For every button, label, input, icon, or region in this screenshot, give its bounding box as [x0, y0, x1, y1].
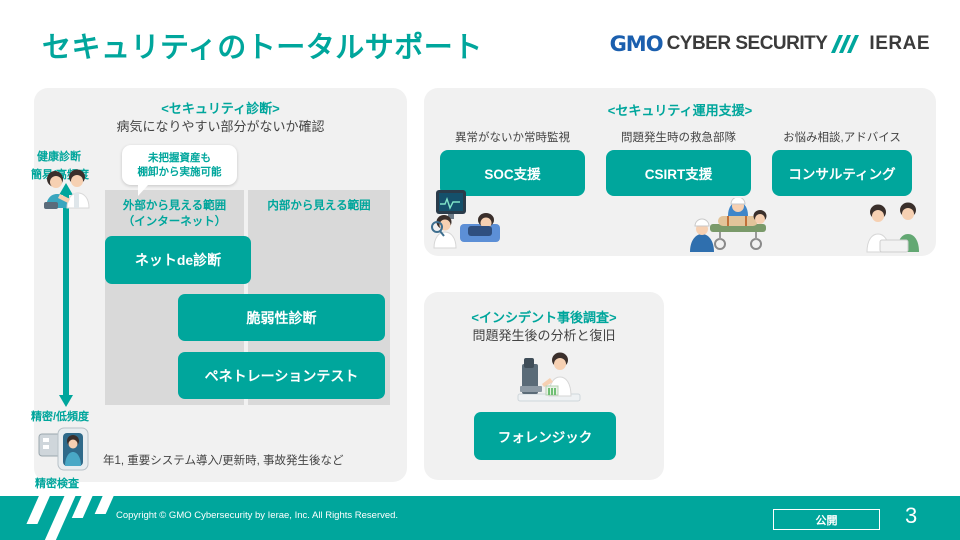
brand-logo: GMO CYBER SECURITY IERAE — [610, 32, 930, 56]
footer-slash-icon — [72, 496, 95, 518]
footer-slash-icon — [26, 496, 52, 524]
logo-gmo-text: GMO — [610, 32, 663, 56]
slide: セキュリティのトータルサポート GMO CYBER SECURITY IERAE… — [0, 0, 960, 540]
callout-line1: 未把握資産も — [138, 151, 222, 165]
consulting-illustration — [860, 196, 932, 254]
forensic-panel-subtitle: 問題発生後の分析と復旧 — [424, 325, 664, 344]
logo-ierae-text: IERAE — [869, 33, 930, 55]
frequency-axis-arrow — [59, 183, 73, 407]
forensic-panel-title: <インシデント事後調査> — [424, 307, 664, 326]
operations-caption-consulting: お悩み相談,アドバイス — [766, 129, 918, 145]
monitoring-illustration — [428, 186, 502, 250]
operations-caption-soc: 異常がないか常時監視 — [440, 129, 585, 145]
service-box-consulting[interactable]: コンサルティング — [772, 150, 912, 196]
service-box-forensic[interactable]: フォレンジック — [474, 412, 616, 460]
arrow-shaft — [63, 194, 69, 396]
grid-head-line1: 外部から見える範囲 — [105, 199, 244, 215]
service-box-net-de-shindan[interactable]: ネットde診断 — [105, 236, 251, 284]
axis-label-precise-low-frequency: 精密/低頻度 — [31, 408, 89, 424]
operations-caption-csirt: 問題発生時の救急部隊 — [600, 129, 757, 145]
page-number: 3 — [905, 503, 917, 529]
grid-head-line1: 内部から見える範囲 — [248, 199, 390, 215]
axis-label-detailed-exam: 精密検査 — [35, 475, 79, 491]
axis-label-health-checkup: 健康診断 — [37, 148, 81, 164]
diagnostics-panel-subtitle: 病気になりやすい部分がないか確認 — [34, 116, 407, 135]
footer-slash-icon — [95, 496, 117, 514]
page-title: セキュリティのトータルサポート — [42, 24, 483, 66]
footer-slash-icon — [45, 496, 78, 540]
grid-column-external-head: 外部から見える範囲 （インターネット） — [105, 190, 244, 230]
copyright-text: Copyright © GMO Cybersecurity by Ierae, … — [116, 510, 398, 521]
diagnostics-frequency-note: 年1, 重要システム導入/更新時, 事故発生後など — [103, 452, 344, 468]
double-slash-icon — [835, 35, 861, 53]
microscope-lab-illustration — [510, 348, 588, 406]
stretcher-rescue-illustration — [688, 198, 780, 254]
status-badge: 公開 — [773, 509, 880, 530]
callout-line2: 棚卸から実施可能 — [138, 165, 222, 179]
grid-column-internal-head: 内部から見える範囲 — [248, 190, 390, 215]
service-box-vulnerability-diagnosis[interactable]: 脆弱性診断 — [178, 294, 385, 341]
logo-cybersecurity-text: CYBER SECURITY — [667, 33, 828, 55]
service-box-penetration-test[interactable]: ペネトレーションテスト — [178, 352, 385, 399]
callout-tail-icon — [138, 179, 164, 196]
operations-panel-title: <セキュリティ運用支援> — [424, 100, 936, 119]
grid-head-line2: （インターネット） — [105, 215, 244, 231]
service-box-csirt-support[interactable]: CSIRT支援 — [606, 150, 751, 196]
callout-bubble: 未把握資産も 棚卸から実施可能 — [122, 145, 237, 185]
arrow-down-icon — [59, 395, 73, 407]
mri-scan-illustration — [38, 424, 92, 472]
diagnostics-panel-title: <セキュリティ診断> — [34, 98, 407, 117]
doctor-checkup-illustration — [38, 164, 94, 210]
